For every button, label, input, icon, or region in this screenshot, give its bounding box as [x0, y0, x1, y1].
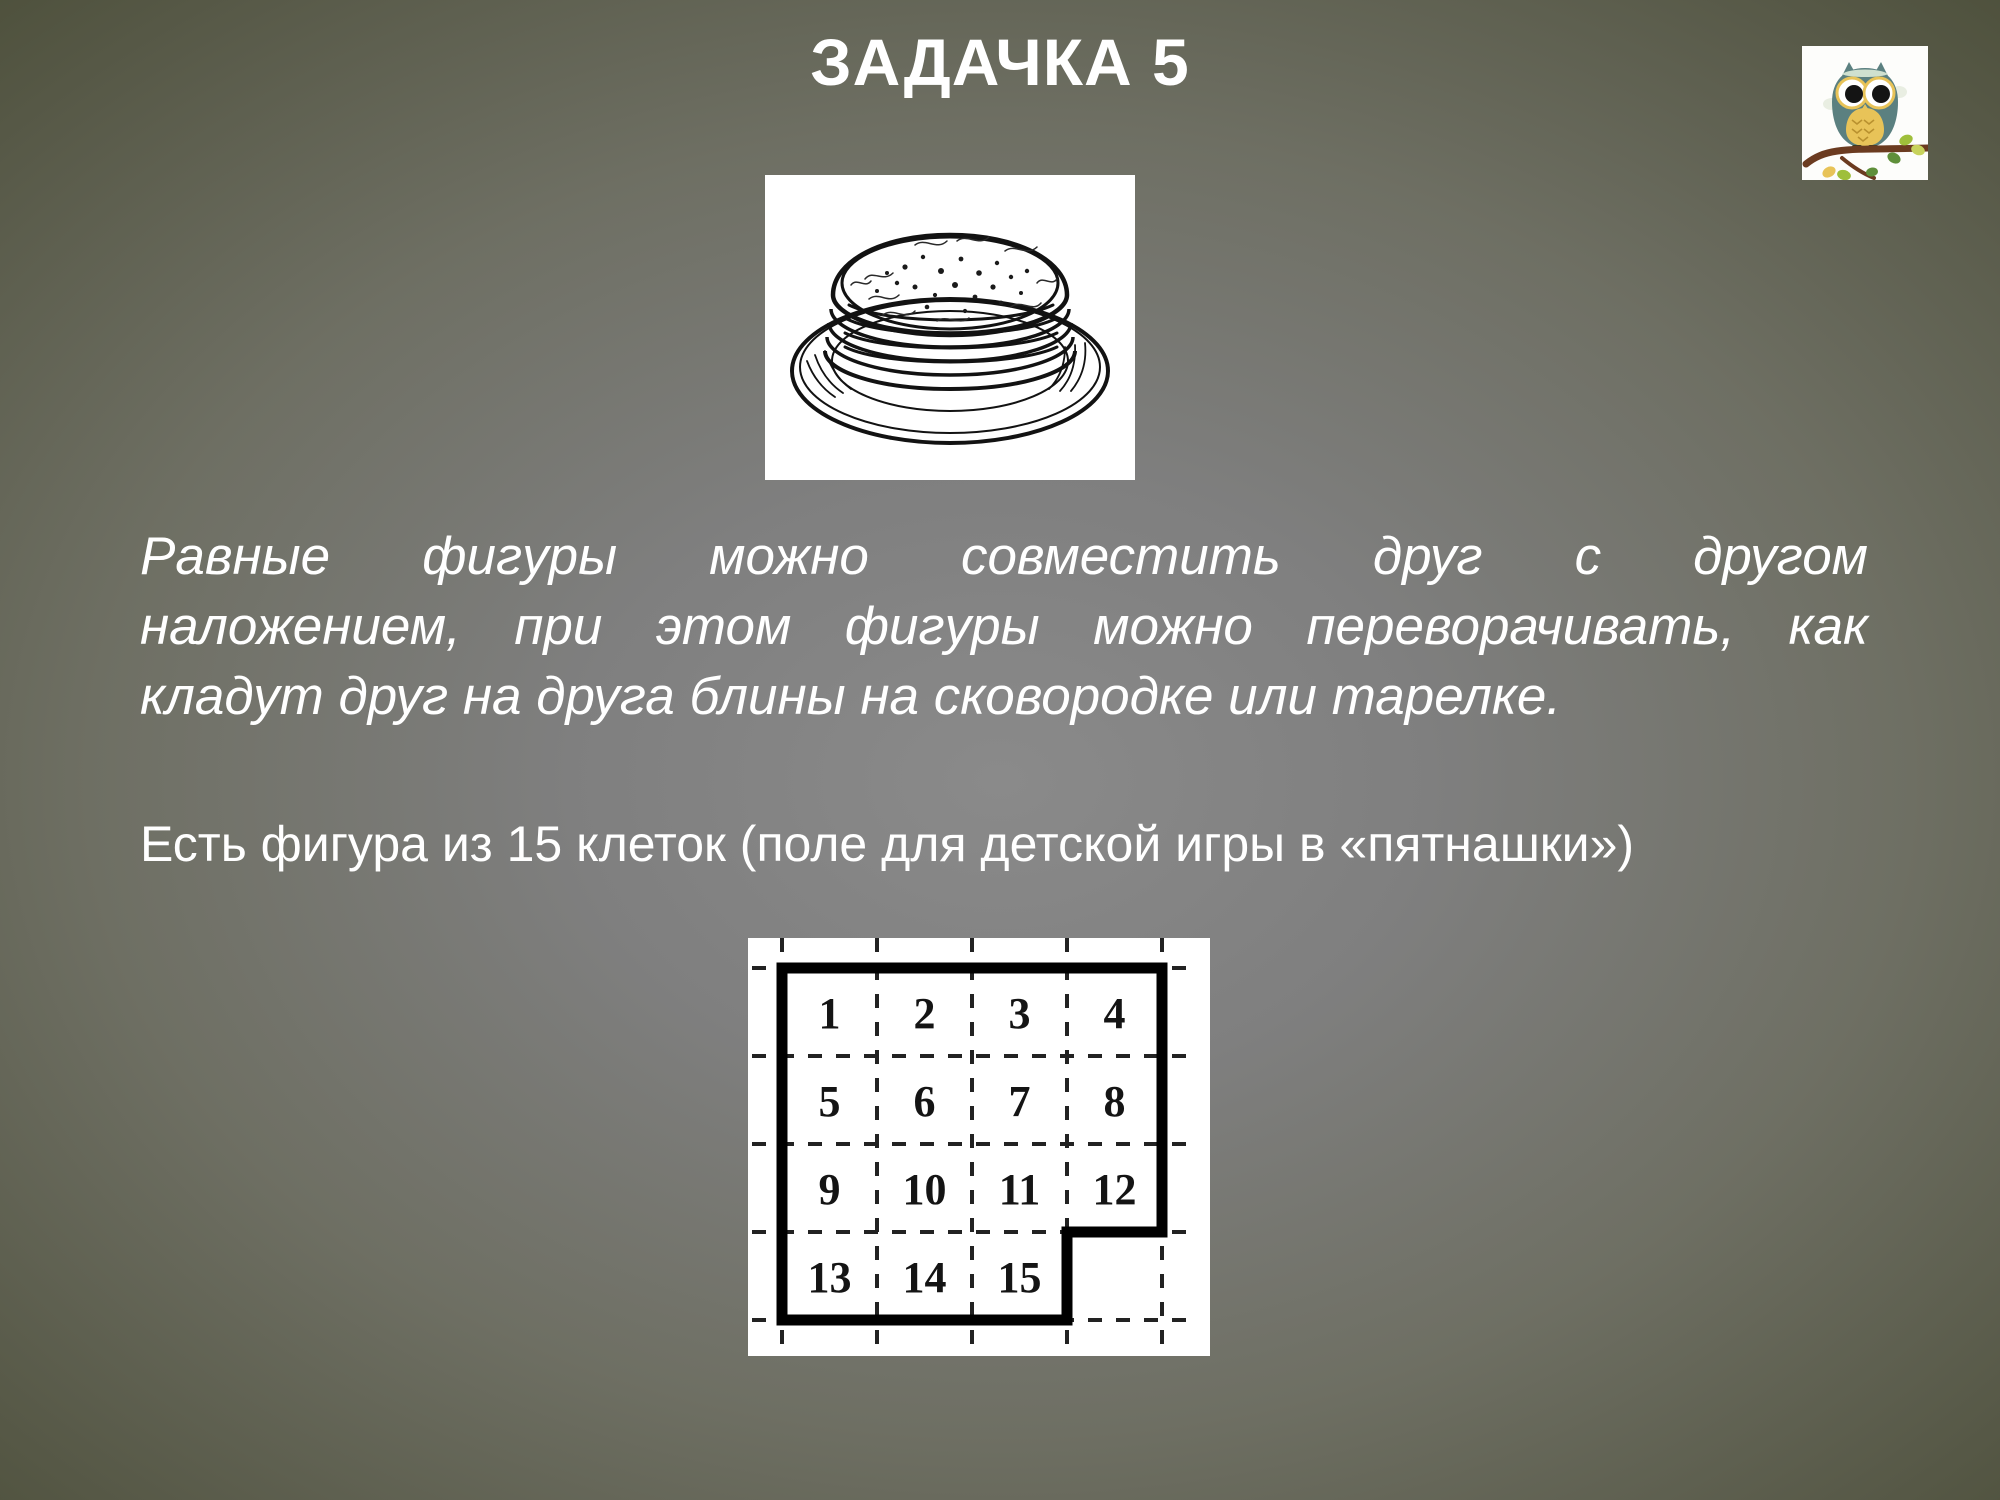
intro-paragraph-line-1: Равные фигуры можно совместить друг с др…	[140, 522, 1868, 592]
puzzle-cell-5: 5	[819, 1077, 841, 1126]
puzzle-cell-11: 11	[999, 1165, 1041, 1214]
puzzle-cell-15: 15	[998, 1253, 1042, 1302]
puzzle-cell-9: 9	[819, 1165, 841, 1214]
fifteen-puzzle-grid: 123456789101112131415	[748, 938, 1210, 1356]
pancake-stack-illustration	[765, 175, 1135, 480]
puzzle-cell-2: 2	[914, 989, 936, 1038]
intro-paragraph-line-2: наложением, при этом фигуры можно перево…	[140, 592, 1868, 662]
puzzle-cell-10: 10	[903, 1165, 947, 1214]
puzzle-cell-8: 8	[1104, 1077, 1126, 1126]
intro-paragraph: Равные фигуры можно совместить друг с др…	[140, 522, 1868, 732]
puzzle-cell-1: 1	[819, 989, 841, 1038]
puzzle-cell-3: 3	[1009, 989, 1031, 1038]
intro-paragraph-line-3: кладут друг на друга блины на сковородке…	[140, 662, 1868, 732]
task-statement: Есть фигура из 15 клеток (поле для детск…	[140, 812, 1900, 877]
slide-root: ЗАДАЧКА 5	[0, 0, 2000, 1500]
puzzle-cell-6: 6	[914, 1077, 936, 1126]
puzzle-cell-12: 12	[1093, 1165, 1137, 1214]
puzzle-cell-7: 7	[1009, 1077, 1031, 1126]
page-title: ЗАДАЧКА 5	[0, 28, 2000, 97]
puzzle-cell-13: 13	[808, 1253, 852, 1302]
puzzle-cell-14: 14	[903, 1253, 947, 1302]
owl-on-branch-logo	[1802, 46, 1928, 180]
puzzle-cell-4: 4	[1104, 989, 1126, 1038]
